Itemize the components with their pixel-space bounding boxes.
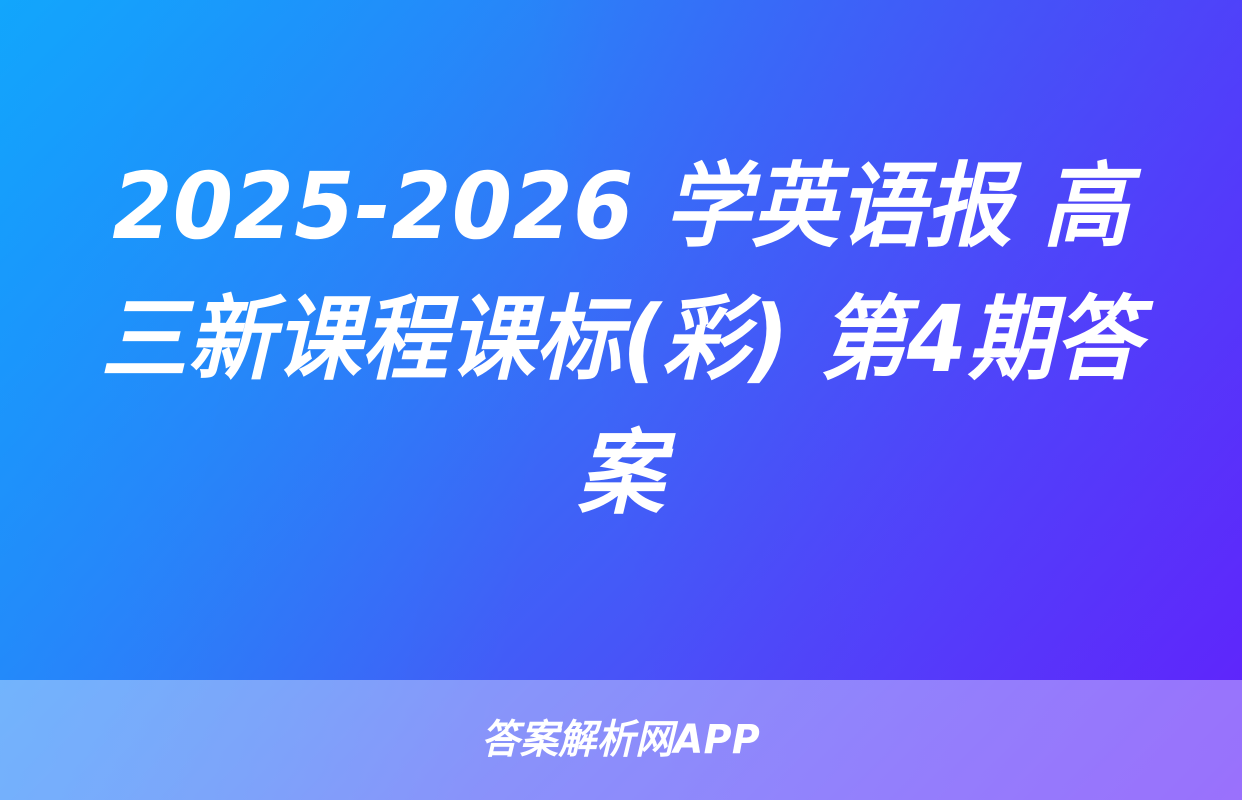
title-block: 2025-2026 学英语报 高三新课程课标(彩) 第4期答案 (0, 0, 1242, 680)
watermark-label: 答案解析网APP (482, 720, 761, 760)
page-title: 2025-2026 学英语报 高三新课程课标(彩) 第4期答案 (88, 140, 1154, 540)
poster-canvas: 2025-2026 学英语报 高三新课程课标(彩) 第4期答案 答案解析网APP (0, 0, 1242, 800)
watermark-bar: 答案解析网APP (0, 680, 1242, 800)
